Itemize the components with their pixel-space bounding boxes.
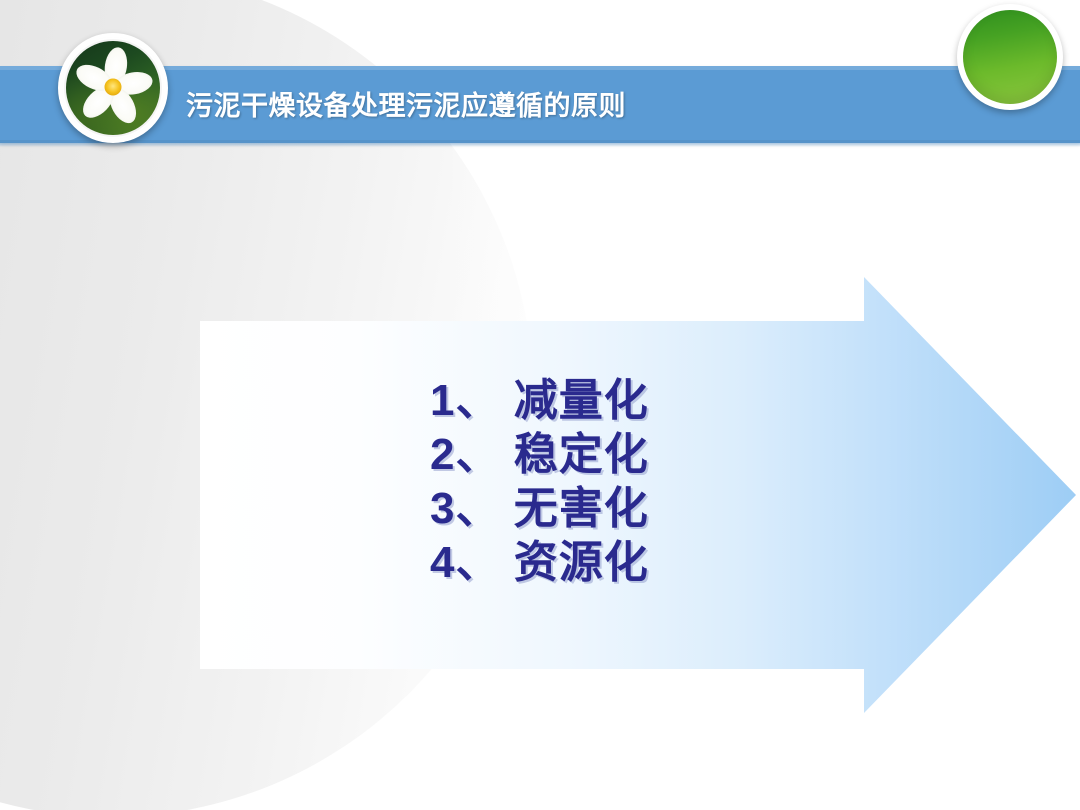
flower-badge-photo bbox=[66, 41, 160, 135]
list-item: 2、 稳定化 bbox=[430, 428, 730, 482]
list-item: 3、 无害化 bbox=[430, 482, 730, 536]
flower-photo-icon bbox=[58, 33, 168, 143]
page-title: 污泥干燥设备处理污泥应遵循的原则 bbox=[186, 84, 626, 128]
flower-badge-ring bbox=[62, 37, 164, 139]
slide-canvas: 1、 减量化 2、 稳定化 3、 无害化 4、 资源化 污泥干燥设备处理污泥应遵… bbox=[0, 0, 1080, 810]
list-item: 1、 减量化 bbox=[430, 374, 730, 428]
header-underline bbox=[0, 143, 1080, 147]
principles-list: 1、 减量化 2、 稳定化 3、 无害化 4、 资源化 bbox=[430, 374, 730, 590]
list-item: 4、 资源化 bbox=[430, 536, 730, 590]
green-circle-inner bbox=[963, 10, 1057, 104]
green-circle-icon bbox=[957, 4, 1063, 110]
